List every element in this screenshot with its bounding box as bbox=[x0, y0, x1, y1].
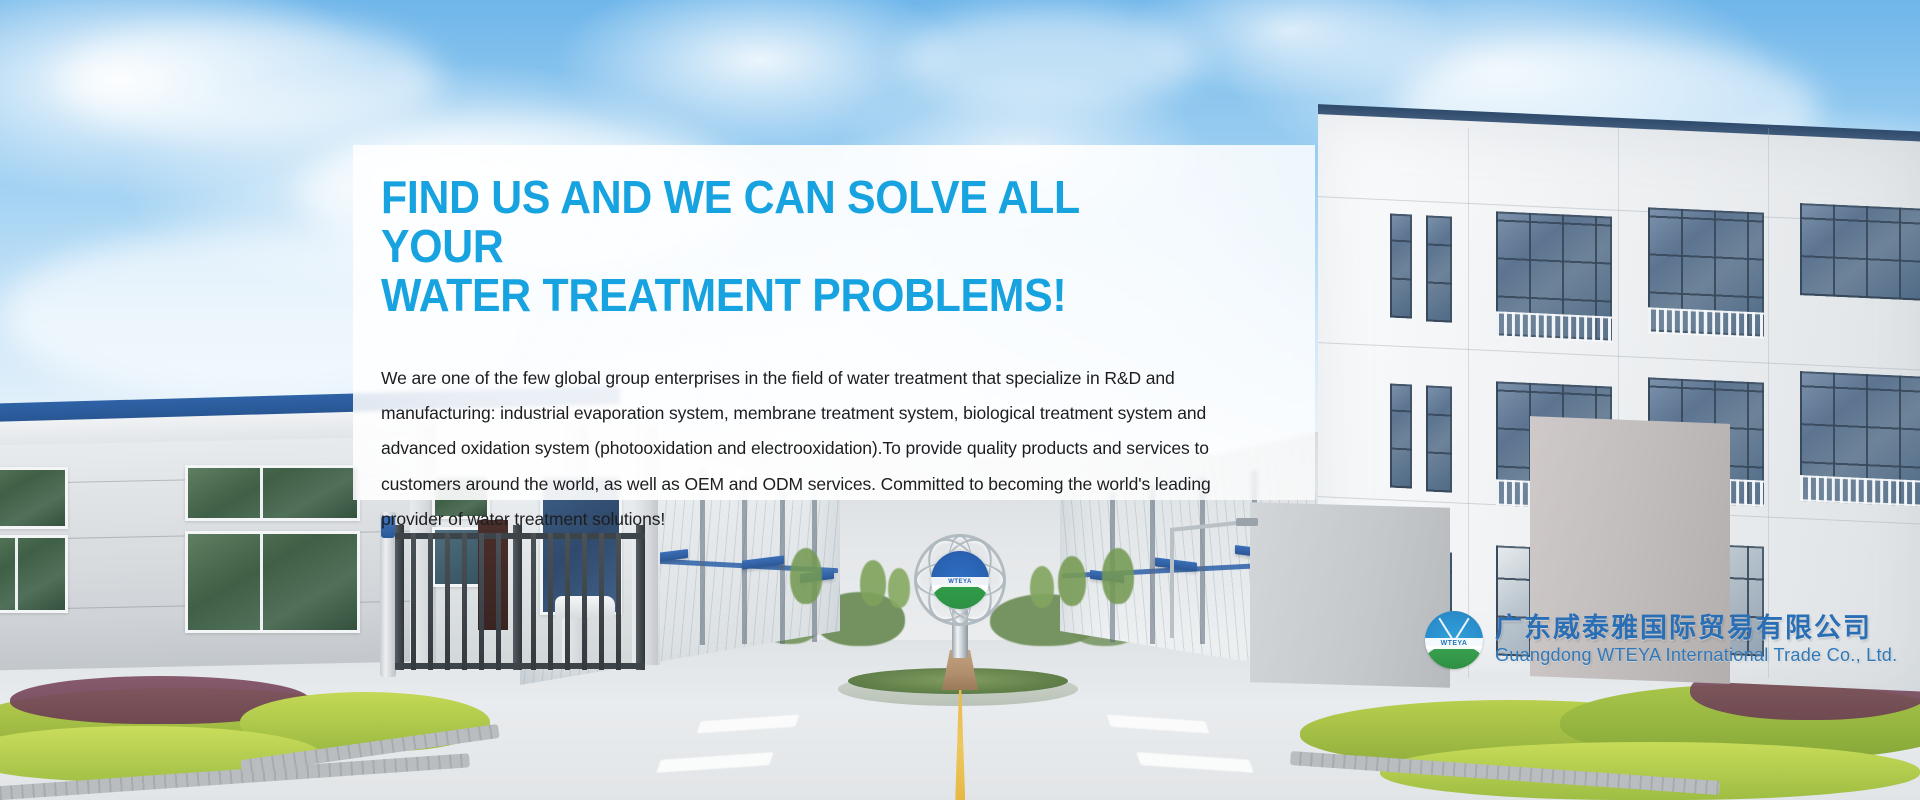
gate-post bbox=[395, 525, 404, 670]
gate-post bbox=[636, 525, 645, 670]
window-mullion bbox=[260, 534, 263, 630]
street-tree bbox=[1102, 548, 1134, 604]
hero-banner: WTEYA bbox=[0, 0, 1920, 800]
facade-panel-seam bbox=[1468, 128, 1469, 678]
office-window bbox=[1426, 385, 1452, 492]
logo-wordmark: WTEYA bbox=[1425, 638, 1483, 650]
window-railing bbox=[1496, 311, 1612, 342]
gate-bar bbox=[428, 533, 433, 670]
window-mullion bbox=[260, 468, 263, 518]
window-grid bbox=[1390, 384, 1412, 489]
street-tree bbox=[1030, 566, 1054, 608]
company-signage: WTEYA 广东威泰雅国际贸易有限公司 Guangdong WTEYA Inte… bbox=[1425, 608, 1845, 672]
guardhouse-window bbox=[0, 467, 68, 529]
signage-text-block: 广东威泰雅国际贸易有限公司 Guangdong WTEYA Internatio… bbox=[1495, 614, 1897, 665]
gate-bar bbox=[616, 533, 621, 670]
gate-bar bbox=[411, 533, 416, 670]
gate-bar bbox=[582, 533, 587, 670]
gate-bar bbox=[565, 533, 570, 670]
gate-bar bbox=[548, 533, 553, 670]
window-grid bbox=[1800, 203, 1920, 301]
window-grid bbox=[1426, 215, 1452, 322]
hero-text-panel: FIND US AND WE CAN SOLVE ALL YOUR WATER … bbox=[353, 145, 1315, 500]
sculpture-logo-badge: WTEYA bbox=[931, 551, 989, 609]
entrance-gate bbox=[395, 525, 645, 670]
hero-headline: FIND US AND WE CAN SOLVE ALL YOUR WATER … bbox=[381, 173, 1207, 321]
cloud bbox=[900, 10, 1200, 110]
window-grid bbox=[1390, 214, 1412, 319]
streetlamp-pole bbox=[1170, 528, 1174, 638]
street-tree bbox=[860, 560, 886, 606]
gate-bar bbox=[445, 533, 450, 670]
facade-panel-seam bbox=[1768, 128, 1769, 678]
hero-text-inner: FIND US AND WE CAN SOLVE ALL YOUR WATER … bbox=[353, 145, 1315, 537]
street-tree bbox=[1058, 556, 1086, 606]
hero-body-text: We are one of the few global group enter… bbox=[381, 361, 1261, 538]
globe-sculpture: WTEYA bbox=[900, 532, 1020, 692]
office-window bbox=[1800, 203, 1920, 301]
badge-green-bottom bbox=[931, 583, 989, 609]
guardhouse-window bbox=[185, 531, 360, 633]
company-logo-icon: WTEYA bbox=[1425, 611, 1483, 669]
gate-post bbox=[513, 525, 522, 670]
window-grid bbox=[1426, 385, 1452, 492]
window-railing bbox=[1648, 307, 1764, 338]
office-window bbox=[1390, 214, 1412, 319]
gate-bar bbox=[479, 533, 484, 670]
window-mullion bbox=[15, 538, 18, 610]
office-window bbox=[1426, 215, 1452, 322]
gate-bar bbox=[599, 533, 604, 670]
guardhouse-window bbox=[0, 535, 68, 613]
gate-bar bbox=[496, 533, 501, 670]
guardhouse-window bbox=[185, 465, 360, 521]
gate-bar bbox=[462, 533, 467, 670]
office-window bbox=[1390, 384, 1412, 489]
cloud bbox=[60, 20, 440, 140]
gate-bar bbox=[531, 533, 536, 670]
street-tree bbox=[790, 548, 822, 604]
badge-wordmark: WTEYA bbox=[931, 577, 989, 587]
company-name-cn: 广东威泰雅国际贸易有限公司 bbox=[1495, 614, 1897, 642]
company-name-en: Guangdong WTEYA International Trade Co.,… bbox=[1495, 645, 1897, 666]
